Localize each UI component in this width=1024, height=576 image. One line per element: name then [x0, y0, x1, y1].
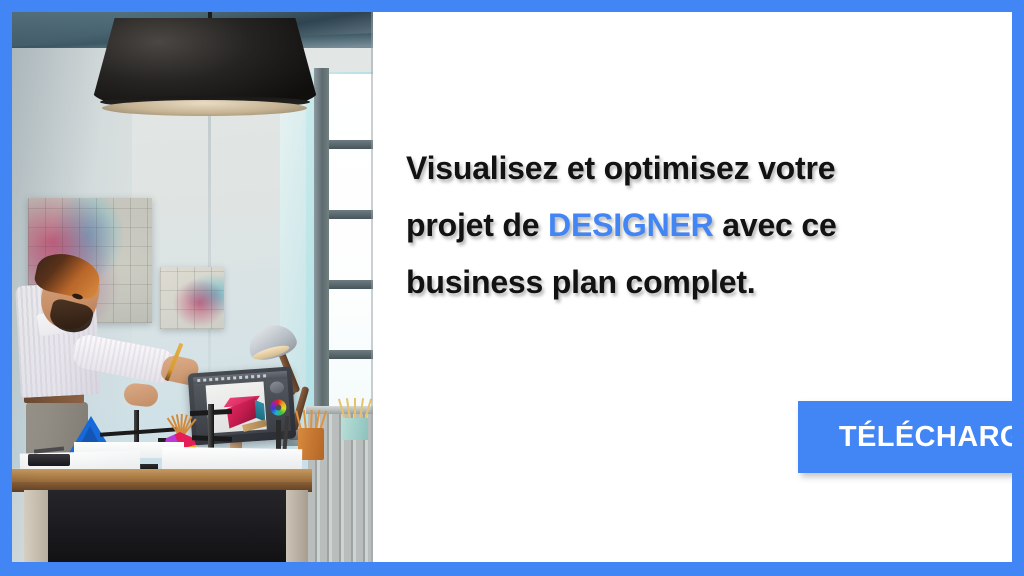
headline-accent-designer: DESIGNER — [548, 207, 714, 243]
content-panel: Visualisez et optimisez votre projet de … — [373, 12, 1012, 562]
dark-pen-1 — [276, 420, 281, 450]
hero-photo — [12, 12, 373, 562]
abstract-wall-art-small — [160, 267, 224, 329]
page-title: Visualisez et optimisez votre projet de … — [406, 140, 936, 311]
window-frame — [314, 68, 329, 443]
stapler — [28, 454, 70, 466]
ad-banner: Visualisez et optimisez votre projet de … — [0, 0, 1024, 576]
desk-leg-left — [24, 490, 50, 562]
software-viewport — [206, 381, 267, 433]
window-glass — [328, 74, 373, 440]
window-mullion — [329, 140, 373, 149]
window-mullion — [329, 280, 373, 289]
art-grid-overlay — [160, 267, 224, 329]
pendant-lamp-inner-glow — [102, 100, 307, 116]
download-now-button[interactable]: TÉLÉCHARGER MAINTENANT — [798, 401, 1012, 473]
mint-pencil-cup — [342, 418, 368, 440]
desk-modesty-panel — [48, 490, 286, 562]
headline-line-2-after: avec ce — [714, 207, 837, 243]
headline-line-2-before: projet de — [406, 207, 548, 243]
window-mullion — [329, 210, 373, 219]
window-mullion — [329, 350, 373, 359]
download-now-label: TÉLÉCHARGER MAINTENANT — [839, 421, 1012, 454]
ad-inner-panel: Visualisez et optimisez votre projet de … — [12, 12, 1012, 562]
mint-cup-pencils — [342, 396, 370, 420]
desk-leg-right — [284, 490, 308, 562]
model-box-side-face — [255, 400, 266, 422]
headline-line-3: business plan complet. — [406, 264, 755, 300]
headline-line-1: Visualisez et optimisez votre — [406, 150, 835, 186]
orange-cup-pencils — [298, 408, 324, 430]
